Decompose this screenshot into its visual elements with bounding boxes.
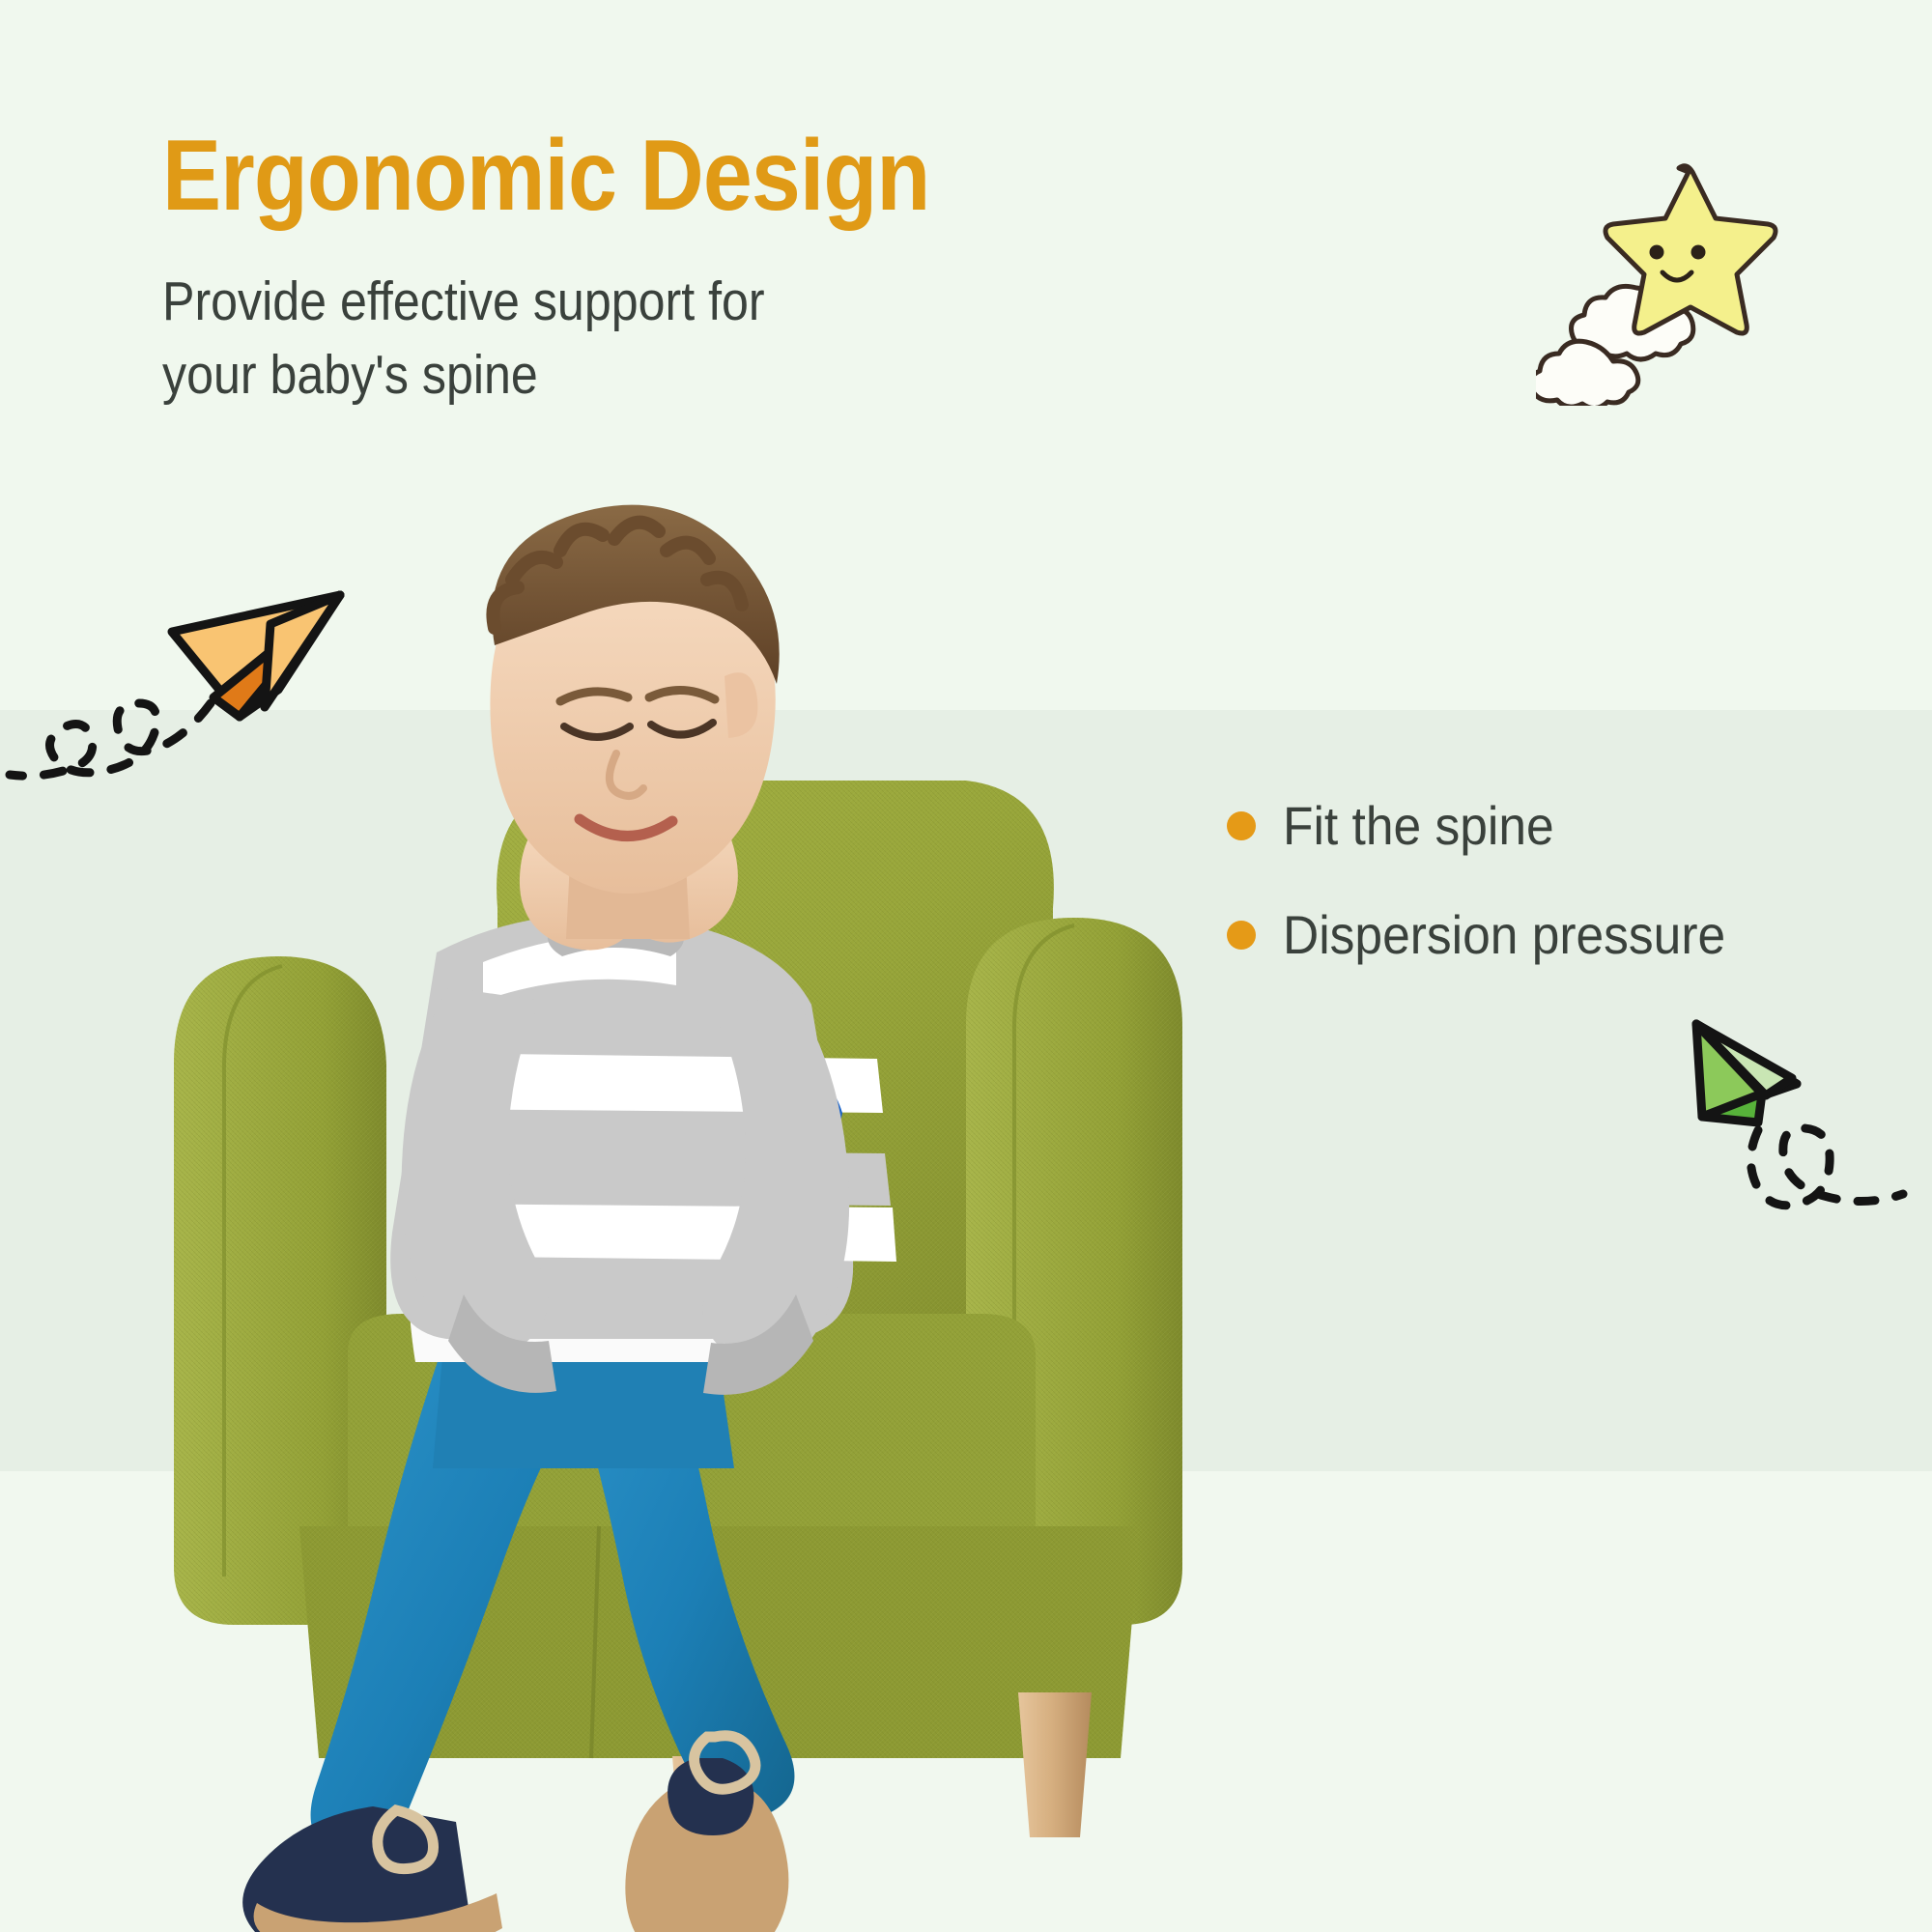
plane-trail	[1750, 1128, 1903, 1206]
list-item: Fit the spine	[1227, 794, 1903, 857]
star-cloud-icon	[1536, 126, 1816, 406]
feature-label: Dispersion pressure	[1283, 903, 1725, 966]
page-title: Ergonomic Design	[162, 124, 1097, 229]
plane-body	[1696, 1024, 1797, 1122]
star-eye-right	[1691, 245, 1706, 260]
feature-list: Fit the spine Dispersion pressure	[1227, 794, 1903, 1012]
chair-leg-right	[1018, 1692, 1092, 1837]
marketing-banner: Ergonomic Design Provide effective suppo…	[0, 0, 1932, 1932]
headline-block: Ergonomic Design Provide effective suppo…	[162, 124, 1225, 412]
paper-plane-green-icon	[1642, 995, 1932, 1285]
child-shoe-left	[242, 1806, 502, 1932]
feature-label: Fit the spine	[1283, 794, 1554, 857]
product-photo	[58, 386, 1314, 1932]
list-item: Dispersion pressure	[1227, 903, 1903, 966]
star-eye-left	[1650, 245, 1664, 260]
